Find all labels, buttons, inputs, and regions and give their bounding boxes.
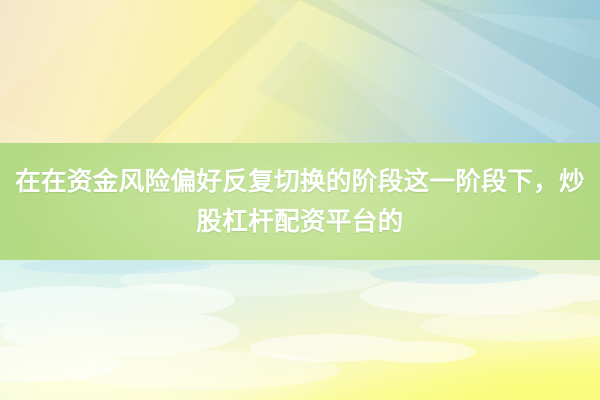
low-poly-facets [0,0,600,144]
upper-abstract-background [0,0,600,144]
caption-band: 在在资金风险偏好反复切换的阶段这一阶段下，炒股杠杆配资平台的 [0,143,600,260]
lower-sky-background [0,260,600,400]
screenshot-canvas: 在在资金风险偏好反复切换的阶段这一阶段下，炒股杠杆配资平台的 [0,0,600,400]
caption-text: 在在资金风险偏好反复切换的阶段这一阶段下，炒股杠杆配资平台的 [10,162,590,242]
cloud-shapes [0,260,600,400]
